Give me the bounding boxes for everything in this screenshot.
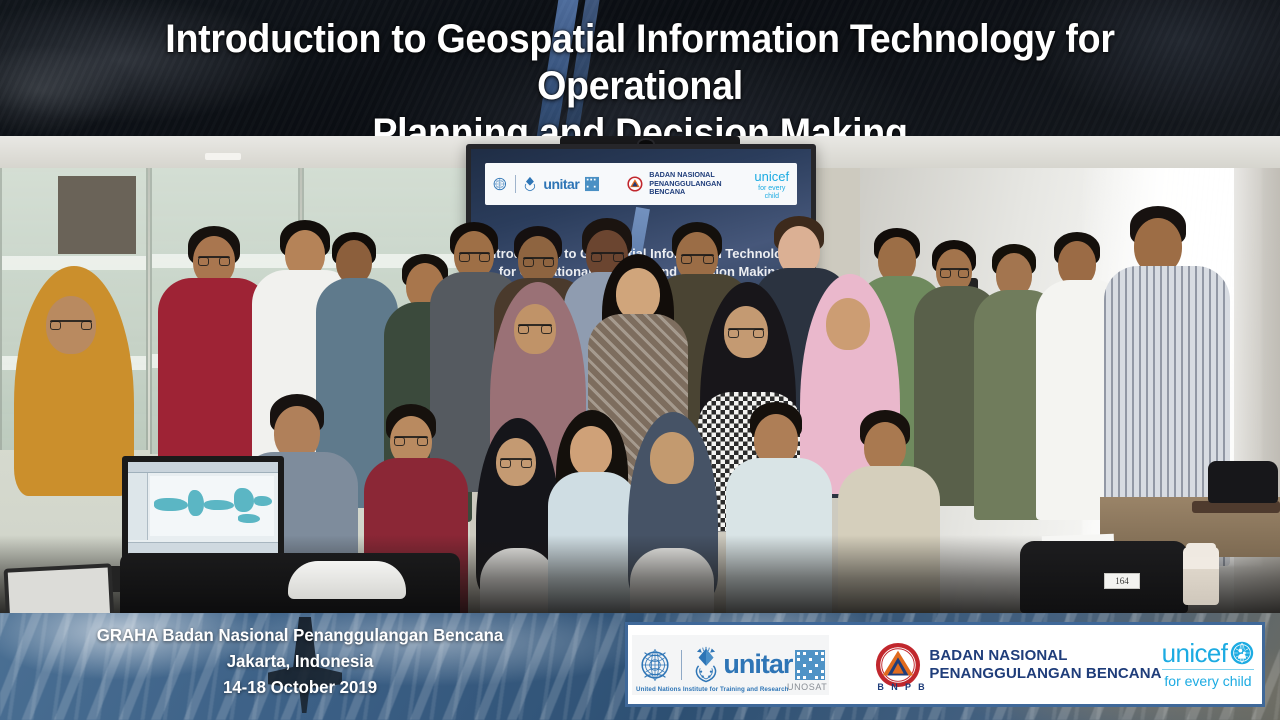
head	[864, 422, 906, 472]
unicef-emblem-icon	[1230, 641, 1254, 665]
gis-layer-panel	[128, 473, 148, 540]
event-details: GRAHA Badan Nasional Penanggulangan Benc…	[12, 623, 588, 701]
bnpb-name: BADAN NASIONAL PENANGGULANGAN BENCANA	[929, 647, 1161, 682]
unicef-logo: unicef for every child	[1162, 640, 1255, 689]
bnpb-line-2: PENANGGULANGAN BENCANA	[929, 665, 1161, 682]
map-island	[188, 490, 204, 516]
ceiling-light	[205, 153, 241, 160]
map-island	[234, 488, 254, 512]
map-island	[154, 498, 188, 511]
eyeglasses-icon	[681, 254, 714, 260]
gis-toolbar	[128, 462, 278, 473]
presentation-slide: Introduction to Geospatial Information T…	[0, 0, 1280, 720]
unosat-wordmark: UNOSAT	[787, 682, 827, 692]
head	[570, 426, 612, 476]
bottle-cap	[1186, 543, 1216, 557]
unitar-mark-icon	[522, 174, 538, 194]
slide-unitar-wordmark: unitar	[543, 176, 579, 192]
unitar-wordmark: unitar	[723, 651, 792, 678]
eyeglasses-icon	[591, 252, 624, 258]
bnpb-logo: BADAN NASIONAL PENANGGULANGAN BENCANA B …	[875, 642, 1161, 688]
gis-map-canvas	[150, 476, 274, 536]
page-title: Introduction to Geospatial Information T…	[38, 16, 1241, 136]
head	[650, 432, 694, 484]
divider	[515, 175, 516, 193]
eyeglasses-icon	[523, 257, 554, 263]
eyeglasses-icon	[728, 328, 764, 334]
unicef-wordmark-row: unicef	[1162, 640, 1255, 666]
slide-unicef-logo: unicef for every child	[753, 168, 791, 201]
monitor-screen	[128, 462, 278, 562]
doorway-opening	[58, 176, 136, 254]
partner-logo-panel: unitar United Nations Institute for Trai…	[625, 622, 1265, 707]
slide-bnpb-text: BADAN NASIONAL PENANGGULANGAN BENCANA	[649, 171, 746, 197]
map-island	[254, 496, 272, 506]
map-island	[238, 514, 260, 523]
unosat-grid-icon	[795, 650, 825, 680]
slide-logo-strip: unitar BADAN	[485, 163, 797, 205]
unicef-wordmark: unicef	[1162, 640, 1228, 666]
bnpb-line-1: BADAN NASIONAL	[929, 647, 1067, 664]
page-title-line-1: Introduction to Geospatial Information T…	[59, 16, 1221, 110]
bnpb-abbreviation: B N P B	[877, 682, 927, 692]
group-photo: unitar BADAN	[0, 136, 1280, 613]
unicef-tagline: for every child	[1162, 669, 1255, 689]
un-emblem-icon	[636, 646, 674, 684]
unosat-grid-icon	[585, 176, 599, 192]
round-table	[288, 561, 406, 599]
eyeglasses-icon	[198, 256, 230, 262]
slide-bnpb-mark-icon	[627, 175, 643, 193]
eyeglasses-icon	[518, 324, 552, 330]
page-title-line-2: Planning and Decision Making	[59, 110, 1221, 136]
logo-divider	[681, 650, 682, 680]
unitar-caption: United Nations Institute for Training an…	[636, 686, 789, 693]
eyeglasses-icon	[459, 252, 490, 258]
un-emblem-icon	[491, 174, 509, 194]
bag	[1208, 461, 1278, 503]
venue-name: GRAHA Badan Nasional Penanggulangan Benc…	[12, 623, 588, 649]
chair-number-label: 164	[1104, 573, 1140, 589]
venue-city: Jakarta, Indonesia	[12, 649, 588, 675]
head	[616, 268, 660, 320]
event-dates: 14-18 October 2019	[12, 675, 588, 701]
slide-header-banner: Introduction to Geospatial Information T…	[0, 0, 1280, 136]
map-island	[204, 500, 234, 510]
head	[826, 298, 870, 350]
eyeglasses-icon	[500, 458, 532, 464]
eyeglasses-icon	[940, 268, 969, 274]
eyeglasses-icon	[394, 436, 428, 442]
laptop	[4, 563, 117, 613]
desktop-monitor	[122, 456, 284, 568]
unitar-logo: unitar United Nations Institute for Trai…	[632, 635, 829, 695]
eyeglasses-icon	[50, 320, 92, 326]
unitar-mark-icon	[689, 646, 723, 684]
